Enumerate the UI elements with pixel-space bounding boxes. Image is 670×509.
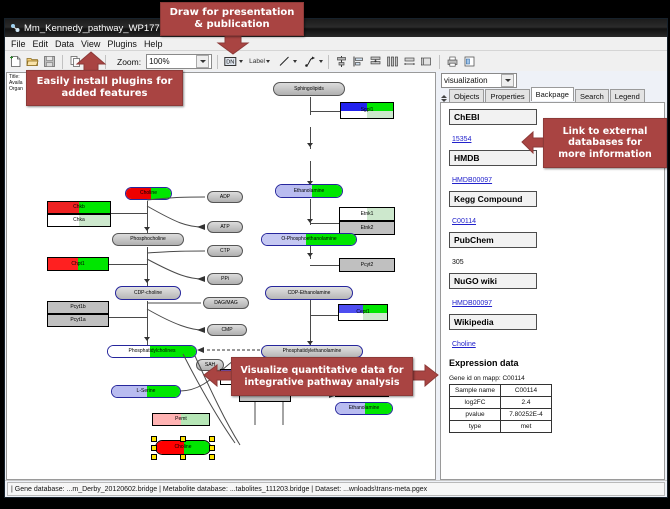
- callout-plugins-line1: Easily install plugins for: [37, 76, 173, 88]
- selection-handle[interactable]: [151, 454, 157, 460]
- node-label: Phosphatidylethanolamine: [283, 349, 342, 354]
- node-label: PPi: [221, 277, 229, 282]
- edge: [110, 213, 147, 214]
- edge: [310, 315, 338, 316]
- tab-search[interactable]: Search: [575, 89, 609, 102]
- callout-visualize-line1: Visualize quantitative data for: [240, 365, 403, 376]
- callout-plugins-line2: added features: [37, 88, 173, 100]
- node-label: Etnk1: [361, 212, 374, 217]
- zoom-value: 100%: [149, 57, 196, 66]
- chevron-down-icon[interactable]: [196, 55, 209, 68]
- node-label: CDP-choline: [134, 291, 162, 296]
- same-height-icon[interactable]: [419, 54, 434, 69]
- node-label: CTP: [220, 249, 230, 254]
- new-file-icon[interactable]: [8, 54, 23, 69]
- callout-links: Link to external databases for more info…: [543, 118, 667, 168]
- edge: [108, 317, 147, 318]
- node-label: Pcyt1a: [70, 318, 85, 323]
- node-dagmag[interactable]: DAG/MAG: [203, 297, 249, 309]
- statusbar: | Gene database: ...m_Derby_20120602.bri…: [5, 480, 667, 497]
- node-cept1[interactable]: Cept1: [338, 304, 388, 321]
- db-header-wikipedia: Wikipedia: [449, 314, 537, 330]
- sidebar-tabstrip: Objects Properties Backpage Search Legen…: [438, 88, 667, 102]
- node-label: Chkb: [73, 205, 85, 210]
- node-cdp-ethanolamine[interactable]: CDP-Ethanolamine: [265, 286, 353, 300]
- callout-visualize-line2: integrative pathway analysis: [240, 377, 403, 388]
- tab-objects[interactable]: Objects: [449, 89, 484, 102]
- node-ctp[interactable]: CTP: [207, 245, 243, 257]
- node-label: CMP: [221, 328, 232, 333]
- node-choline-top[interactable]: Choline: [125, 187, 172, 200]
- node-label: ADP: [220, 195, 230, 200]
- node-label: Ethanolamine: [294, 189, 325, 194]
- db-link-hmdb[interactable]: HMDB00097: [452, 177, 492, 184]
- cell-value: C00114: [501, 385, 552, 397]
- menu-file[interactable]: File: [11, 39, 26, 49]
- distribute-horizontal-icon[interactable]: [385, 54, 400, 69]
- node-choline-selected[interactable]: Choline: [155, 440, 211, 455]
- callout-visualize-arrow-icon: [203, 363, 233, 387]
- same-width-icon[interactable]: [402, 54, 417, 69]
- window-titlebar: Mm_Kennedy_pathway_WP1771_45176.gpml: [5, 19, 667, 37]
- toolbar-separator: [62, 55, 63, 69]
- expression-data-heading: Expression data: [449, 358, 664, 368]
- callout-draw-arrow-icon: [215, 33, 251, 55]
- callout-draw: Draw for presentation & publication: [160, 2, 304, 36]
- menu-edit[interactable]: Edit: [33, 39, 49, 49]
- node-label: CDP-Ethanolamine: [288, 291, 331, 296]
- datanode-tool-group[interactable]: DN: [223, 54, 243, 69]
- label-tool-group[interactable]: Label: [249, 58, 270, 65]
- toolbar-separator: [217, 55, 218, 69]
- node-label: Etnk2: [361, 226, 374, 231]
- node-label: Cept1: [356, 310, 369, 315]
- visualization-value: visualization: [444, 76, 501, 85]
- db-link-kegg-compound[interactable]: C00114: [452, 218, 476, 225]
- open-file-icon[interactable]: [25, 54, 40, 69]
- pathway-canvas[interactable]: Title: Availa Organ: [7, 73, 435, 479]
- menu-view[interactable]: View: [81, 39, 100, 49]
- pathway-info-organism: Organ: [9, 86, 23, 92]
- print-icon[interactable]: [445, 54, 460, 69]
- chevron-down-icon[interactable]: [293, 60, 297, 63]
- arrow-icon: [144, 227, 150, 231]
- arrow-icon: [144, 279, 150, 283]
- interaction-tool-group[interactable]: [303, 54, 323, 69]
- pathway-info-block: Title: Availa Organ: [9, 74, 23, 93]
- label-tool-text: Label: [249, 58, 265, 65]
- db-link-nugo-wiki[interactable]: HMDB00097: [452, 300, 492, 307]
- pathway-canvas-pane[interactable]: Title: Availa Organ: [6, 72, 436, 480]
- node-chka[interactable]: Chka: [47, 214, 111, 227]
- cell-label: Sample name: [450, 385, 501, 397]
- node-l-serine-left[interactable]: L-Serine: [111, 385, 181, 398]
- zoom-label: Zoom:: [117, 57, 141, 67]
- node-pcyt1b[interactable]: Pcyt1b: [47, 301, 109, 314]
- menu-data[interactable]: Data: [55, 39, 74, 49]
- export-icon[interactable]: [462, 54, 477, 69]
- arrow-icon: [144, 337, 150, 341]
- node-label: Sphingolipids: [294, 87, 324, 92]
- menu-help[interactable]: Help: [144, 39, 163, 49]
- selection-handle[interactable]: [151, 436, 157, 442]
- chevron-down-icon[interactable]: [501, 74, 514, 87]
- node-label: Choline: [140, 191, 157, 196]
- table-row: Sample name C00114: [450, 385, 552, 397]
- cell-label: log2FC: [450, 397, 501, 409]
- expression-table: Sample name C00114 log2FC 2.4 pvalue 7.8…: [449, 384, 552, 433]
- node-label: Pemt: [175, 417, 187, 422]
- node-pcyt1a[interactable]: Pcyt1a: [47, 314, 109, 327]
- arrow-icon: [307, 253, 313, 257]
- cell-value: met: [501, 421, 552, 433]
- node-label: Phosphatidylcholines: [129, 349, 176, 354]
- node-ethanolamine-1[interactable]: Ethanolamine: [275, 184, 343, 198]
- callout-draw-line2: & publication: [170, 19, 295, 31]
- node-etnk1[interactable]: Etnk1: [339, 207, 395, 221]
- node-ethanolamine-2[interactable]: Ethanolamine: [335, 402, 393, 415]
- node-cmp[interactable]: CMP: [207, 324, 247, 336]
- arrow-icon: [307, 143, 313, 147]
- node-label: Pcyt2: [361, 263, 374, 268]
- cell-label: pvalue: [450, 409, 501, 421]
- save-file-icon[interactable]: [42, 54, 57, 69]
- statusbar-text: | Gene database: ...m_Derby_20120602.bri…: [7, 482, 665, 496]
- stack-vertical-icon[interactable]: [368, 54, 383, 69]
- callout-visualize: Visualize quantitative data for integrat…: [231, 357, 413, 396]
- tab-properties[interactable]: Properties: [485, 89, 529, 102]
- table-row: type met: [450, 421, 552, 433]
- align-left-icon[interactable]: [351, 54, 366, 69]
- visualization-combobox[interactable]: visualization: [441, 73, 517, 88]
- callout-links-line1: Link to external: [558, 126, 652, 137]
- app-icon: [10, 23, 20, 33]
- datanode-icon[interactable]: DN: [223, 54, 238, 69]
- toolbar-separator: [328, 55, 329, 69]
- toolbar-separator: [439, 55, 440, 69]
- edge: [310, 111, 340, 112]
- chevron-down-icon[interactable]: [239, 60, 243, 63]
- selection-handle[interactable]: [180, 436, 186, 442]
- db-link-chebi[interactable]: 15354: [452, 136, 471, 143]
- node-phosphocholine[interactable]: Phosphocholine: [112, 233, 184, 246]
- node-sphingolipids[interactable]: Sphingolipids: [273, 82, 345, 96]
- zoom-combobox[interactable]: 100%: [146, 54, 212, 69]
- node-label: Ethanolamine: [349, 406, 380, 411]
- db-header-chebi: ChEBI: [449, 109, 537, 125]
- db-value-pubchem: 305: [452, 259, 464, 266]
- db-link-wikipedia[interactable]: Choline: [452, 341, 476, 348]
- edge: [108, 264, 147, 265]
- node-label: Sgpl1: [361, 108, 374, 113]
- line-tool-group[interactable]: [277, 54, 297, 69]
- chevron-up-icon[interactable]: [441, 95, 447, 98]
- selection-handle[interactable]: [180, 454, 186, 460]
- callout-visualize-arrow-right-icon: [409, 363, 439, 387]
- svg-text:DN: DN: [226, 60, 234, 66]
- node-pcyt2[interactable]: Pcyt2: [339, 258, 395, 272]
- node-label: Phosphocholine: [130, 237, 166, 242]
- node-ppi[interactable]: PPi: [207, 273, 243, 285]
- selection-handle[interactable]: [151, 445, 157, 451]
- db-header-nugo-wiki: NuGO wiki: [449, 273, 537, 289]
- node-label: Choline: [175, 445, 192, 450]
- align-center-icon[interactable]: [334, 54, 349, 69]
- table-row: pvalue 7.80252E-4: [450, 409, 552, 421]
- interaction-icon[interactable]: [303, 54, 318, 69]
- node-chpt1[interactable]: Chpt1: [47, 257, 109, 271]
- cell-value: 7.80252E-4: [501, 409, 552, 421]
- menubar: File Edit Data View Plugins Help: [5, 37, 667, 51]
- edge: [310, 97, 311, 115]
- node-phosphatidylcholines[interactable]: Phosphatidylcholines: [107, 345, 197, 358]
- visualization-row: visualization: [438, 72, 667, 88]
- node-cdp-choline[interactable]: CDP-choline: [115, 286, 181, 300]
- db-header-pubchem: PubChem: [449, 232, 537, 248]
- node-label: Pcyt1b: [70, 305, 85, 310]
- node-o-phosphoethanolamine[interactable]: O-Phosphoethanolamine: [261, 233, 357, 246]
- callout-links-line2: databases for: [558, 137, 652, 148]
- node-label: L-Serine: [137, 389, 156, 394]
- node-label: ATP: [220, 225, 229, 230]
- node-label: Chpt1: [71, 262, 84, 267]
- table-row: log2FC 2.4: [450, 397, 552, 409]
- callout-links-line3: more information: [558, 149, 652, 160]
- node-label: DAG/MAG: [214, 301, 238, 306]
- tab-legend[interactable]: Legend: [610, 89, 645, 102]
- tab-backpage[interactable]: Backpage: [531, 87, 574, 101]
- node-atp[interactable]: ATP: [207, 221, 243, 233]
- db-header-kegg-compound: Kegg Compound: [449, 191, 537, 207]
- callout-plugins: Easily install plugins for added feature…: [26, 70, 183, 106]
- cell-label: type: [450, 421, 501, 433]
- line-icon[interactable]: [277, 54, 292, 69]
- node-chkb[interactable]: Chkb: [47, 201, 111, 214]
- selection-handle[interactable]: [209, 436, 215, 442]
- selection-handle[interactable]: [209, 454, 215, 460]
- node-sgpl1[interactable]: Sgpl1: [340, 102, 394, 119]
- chevron-down-icon[interactable]: [319, 60, 323, 63]
- node-pemt[interactable]: Pemt: [152, 413, 210, 426]
- selection-handle[interactable]: [209, 445, 215, 451]
- screenshot-root: Mm_Kennedy_pathway_WP1771_45176.gpml Fil…: [0, 0, 670, 509]
- node-adp[interactable]: ADP: [207, 191, 243, 203]
- node-label: O-Phosphoethanolamine: [281, 237, 336, 242]
- node-label: Chka: [73, 218, 85, 223]
- tab-scroll-arrows[interactable]: [441, 95, 447, 102]
- chevron-down-icon[interactable]: [266, 60, 270, 63]
- menu-plugins[interactable]: Plugins: [107, 39, 137, 49]
- cell-value: 2.4: [501, 397, 552, 409]
- gene-id-line: Gene id on mapp: C00114: [449, 375, 664, 382]
- callout-draw-line1: Draw for presentation: [170, 7, 295, 19]
